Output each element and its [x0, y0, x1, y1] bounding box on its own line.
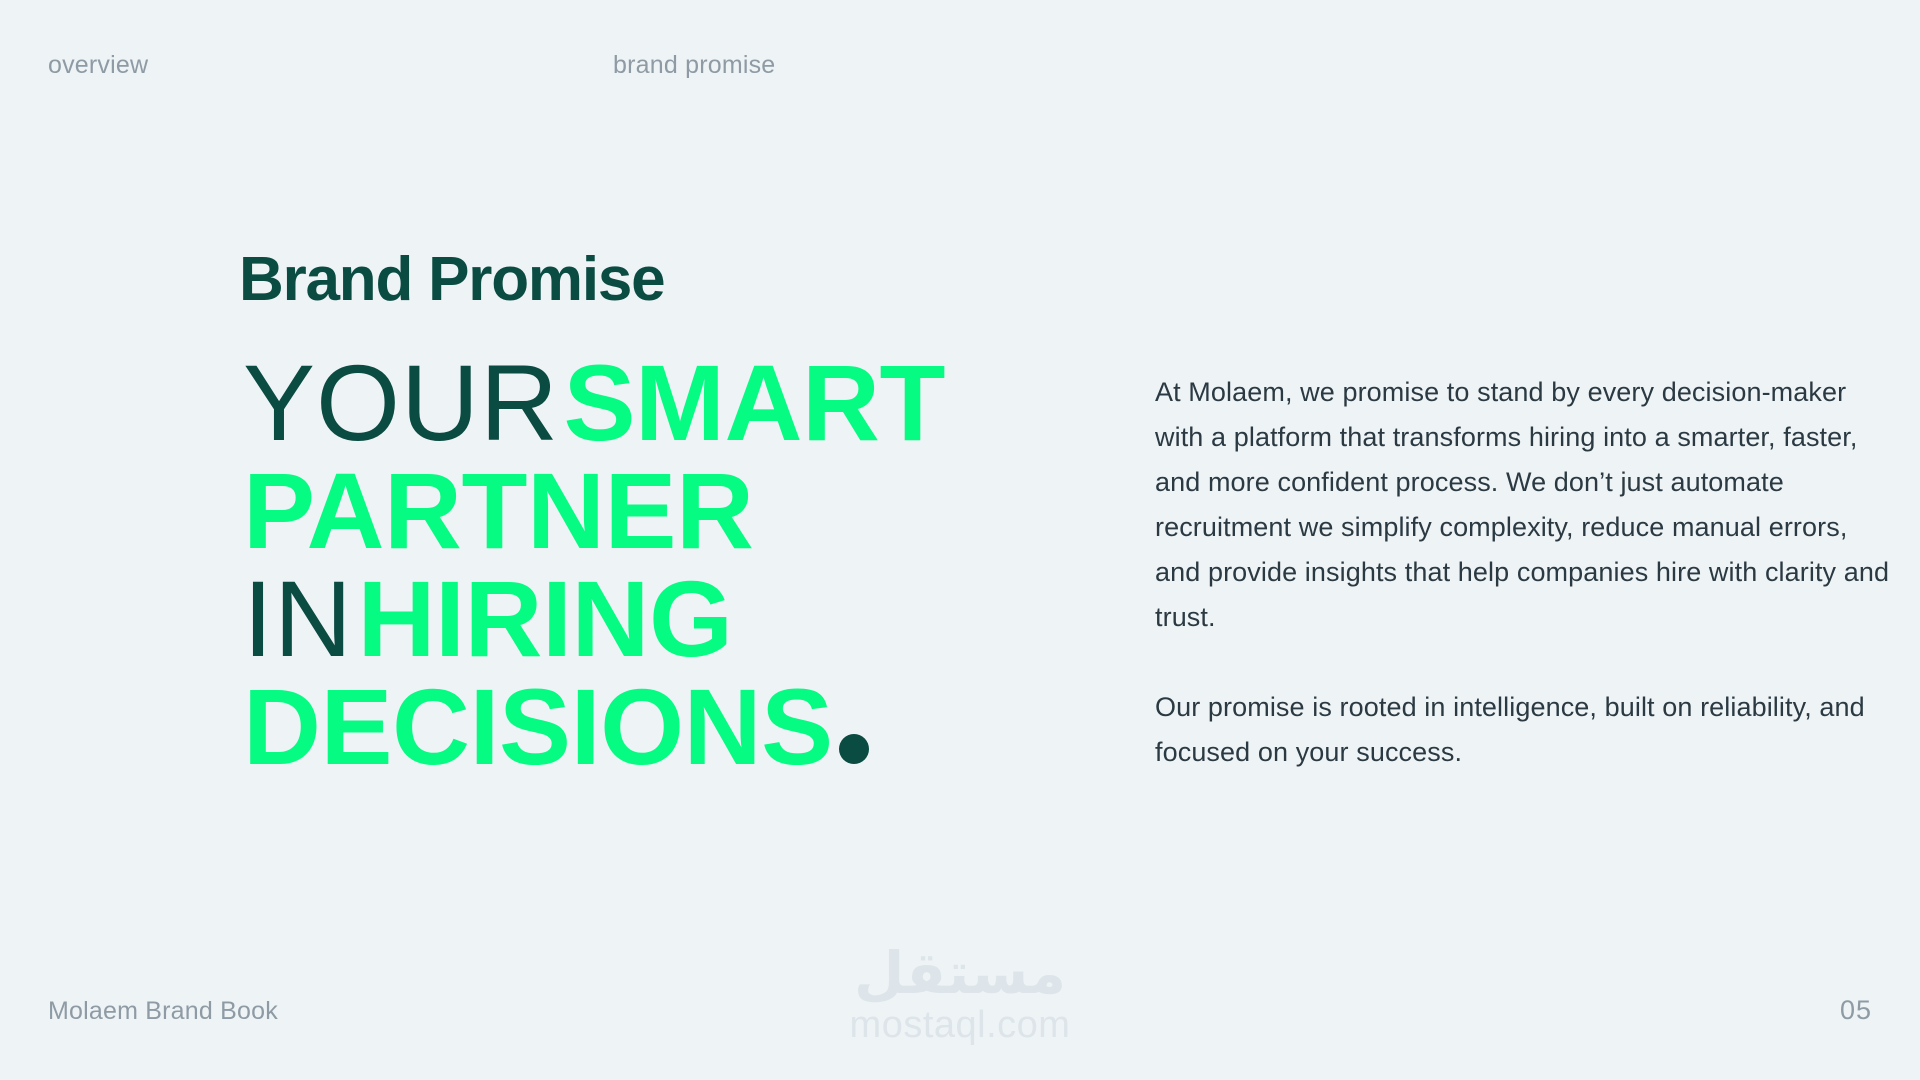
statement-word-decisions: DECISIONS [243, 666, 833, 787]
statement-line-1: YOUR SMART [243, 355, 1103, 463]
statement-period-dot [839, 734, 869, 764]
statement-word-smart: SMART [563, 342, 944, 463]
footer-page-number: 05 [1840, 995, 1872, 1026]
watermark-url: mostaql.com [850, 1006, 1071, 1044]
footer-document-label: Molaem Brand Book [48, 997, 278, 1026]
watermark: مستقل mostaql.com [850, 944, 1071, 1044]
watermark-arabic-logo: مستقل [850, 944, 1071, 1002]
top-nav: overview brand promise [0, 48, 1920, 82]
statement-word-partner: PARTNER [243, 450, 754, 571]
statement-line-2: PARTNER [243, 463, 1103, 571]
nav-item-brand-promise[interactable]: brand promise [613, 48, 775, 82]
page-title: Brand Promise [239, 247, 664, 312]
slide-canvas: overview brand promise Brand Promise YOU… [0, 0, 1920, 1080]
statement-line-3: IN HIRING [243, 571, 1103, 679]
copy-paragraph-2: Our promise is rooted in intelligence, b… [1155, 685, 1895, 775]
statement-word-hiring: HIRING [357, 558, 732, 679]
copy-paragraph-1: At Molaem, we promise to stand by every … [1155, 370, 1895, 640]
body-copy: At Molaem, we promise to stand by every … [1155, 370, 1895, 775]
nav-item-overview[interactable]: overview [48, 48, 148, 82]
statement-word-your: YOUR [243, 342, 559, 463]
statement-word-in: IN [243, 558, 353, 679]
statement-line-4: DECISIONS [243, 679, 1103, 787]
display-statement: YOUR SMART PARTNER IN HIRING DECISIONS [243, 355, 1103, 787]
